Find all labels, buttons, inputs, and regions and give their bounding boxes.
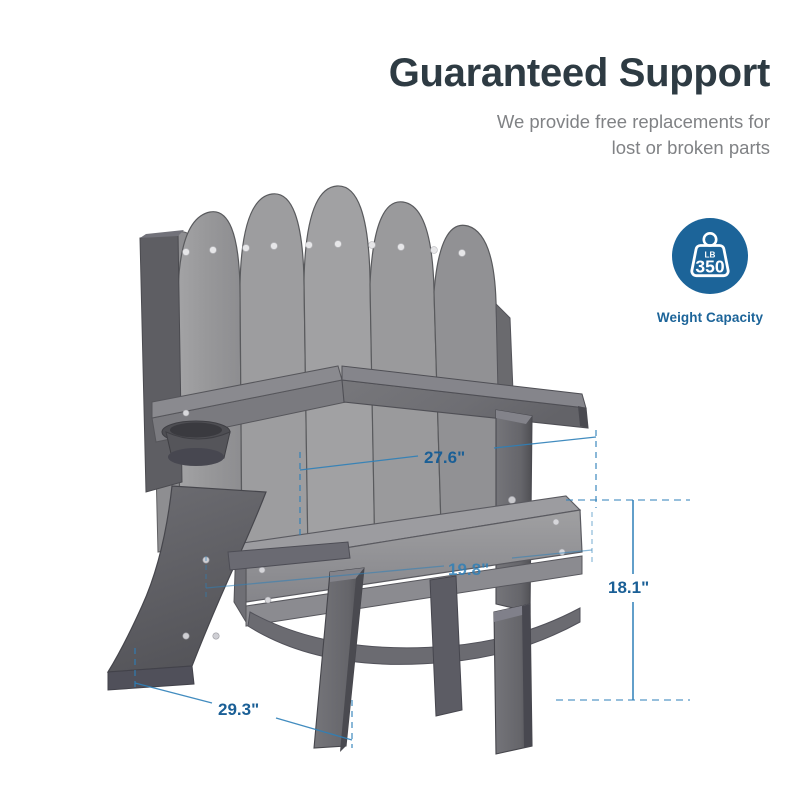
front-right-leg: [494, 604, 532, 754]
dim-line-depth-left: [135, 683, 212, 703]
product-infographic: Guaranteed Support We provide free repla…: [0, 0, 800, 800]
dimension-label-height: 18.1": [608, 578, 649, 598]
chair-illustration: [0, 0, 800, 800]
dimension-label-width: 27.6": [424, 448, 465, 468]
rear-right-leg: [430, 576, 462, 716]
cup-holder: [162, 421, 230, 466]
dimension-label-seat-width: 19.8": [448, 560, 489, 580]
dimension-label-depth: 29.3": [218, 700, 259, 720]
